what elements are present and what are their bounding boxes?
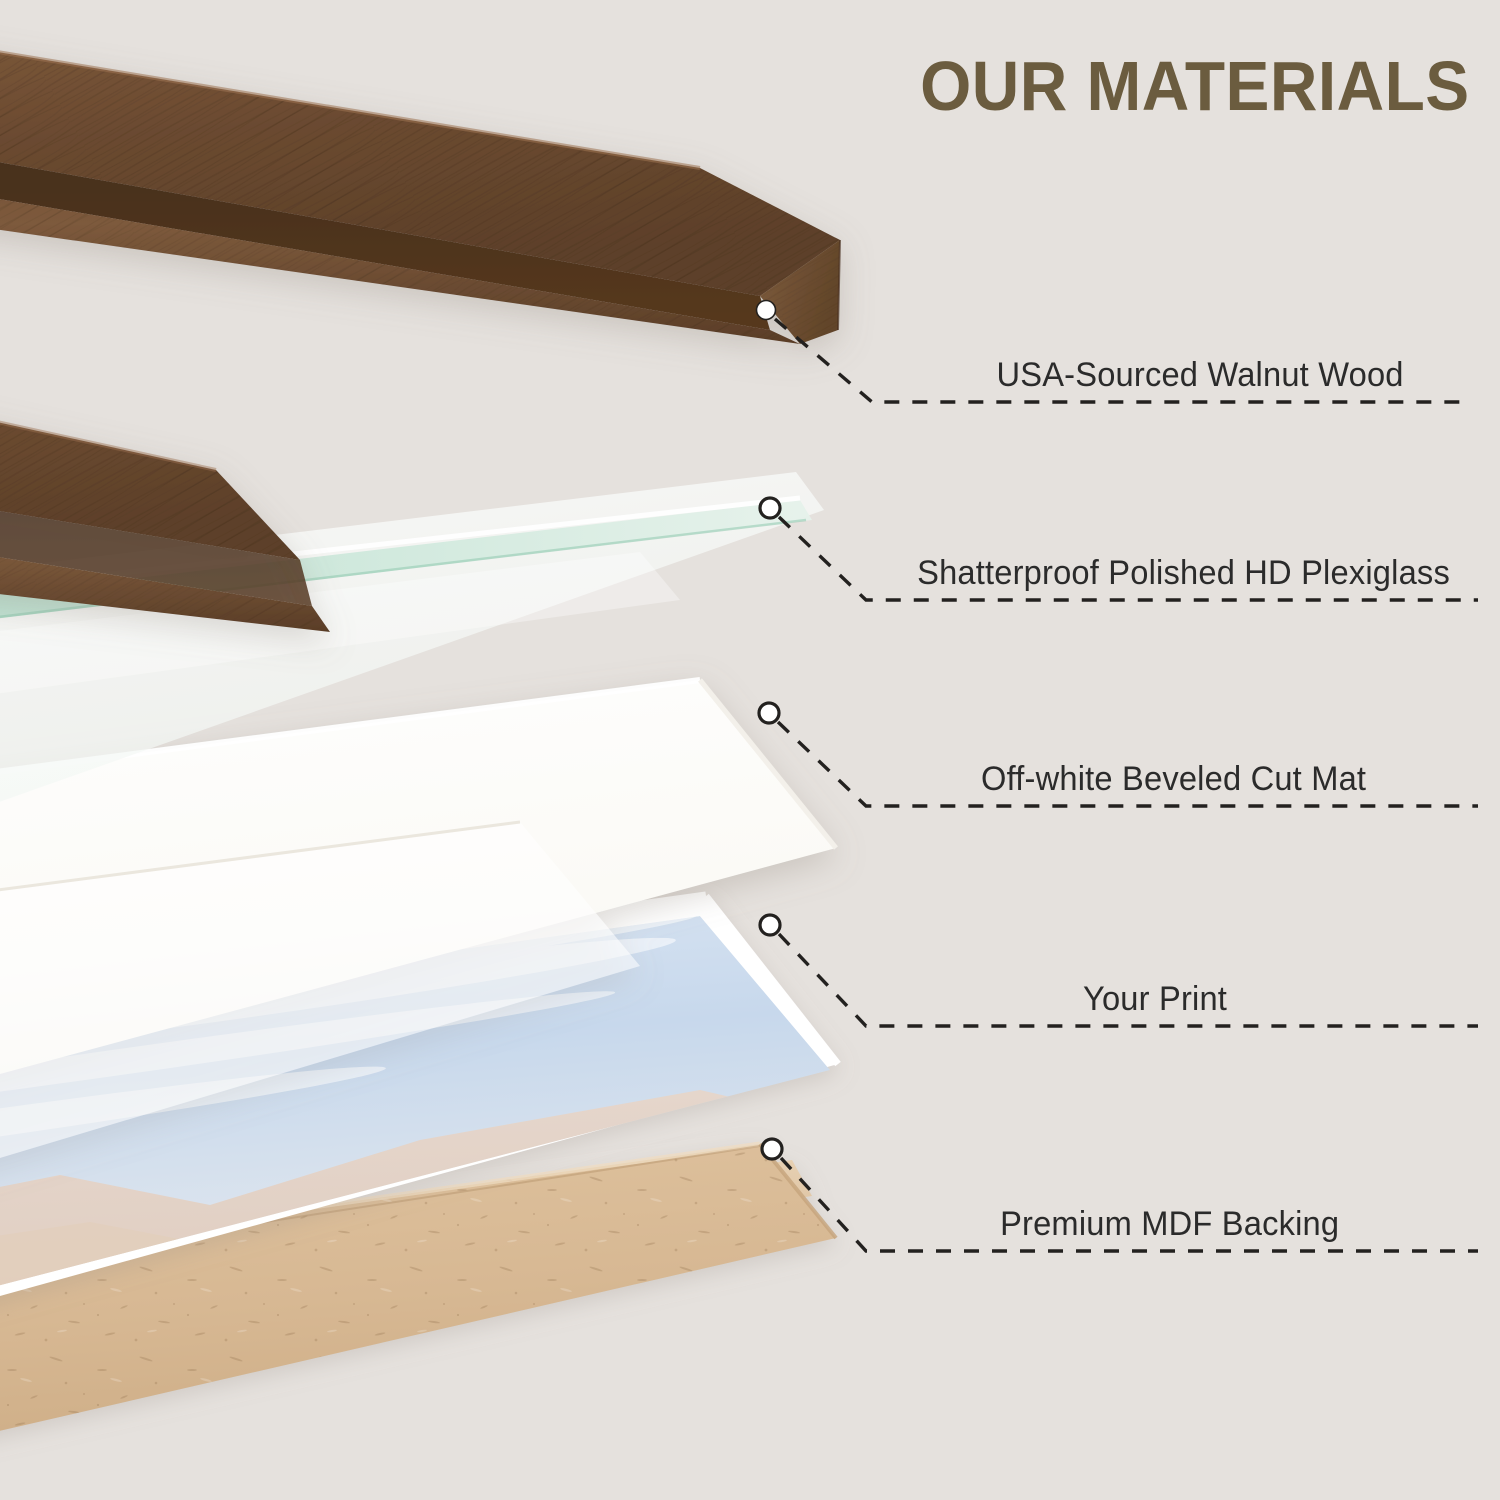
page-title: OUR MATERIALS	[920, 46, 1470, 126]
callout-dot-mat[interactable]	[759, 703, 779, 723]
callout-label-print: Your Print	[1083, 980, 1227, 1019]
callout-dot-print[interactable]	[760, 915, 780, 935]
callout-dot-mdf[interactable]	[762, 1139, 782, 1159]
callout-dot-walnut[interactable]	[757, 301, 776, 320]
callout-leader-lines	[0, 0, 1500, 1500]
callout-label-mat: Off-white Beveled Cut Mat	[981, 760, 1366, 799]
callout-label-plexiglass: Shatterproof Polished HD Plexiglass	[917, 554, 1450, 593]
callout-label-mdf: Premium MDF Backing	[1000, 1205, 1339, 1244]
infographic-canvas: USA-Sourced Walnut WoodShatterproof Poli…	[0, 0, 1500, 1500]
callout-label-walnut: USA-Sourced Walnut Wood	[997, 356, 1404, 395]
callout-dot-plexiglass[interactable]	[760, 498, 780, 518]
